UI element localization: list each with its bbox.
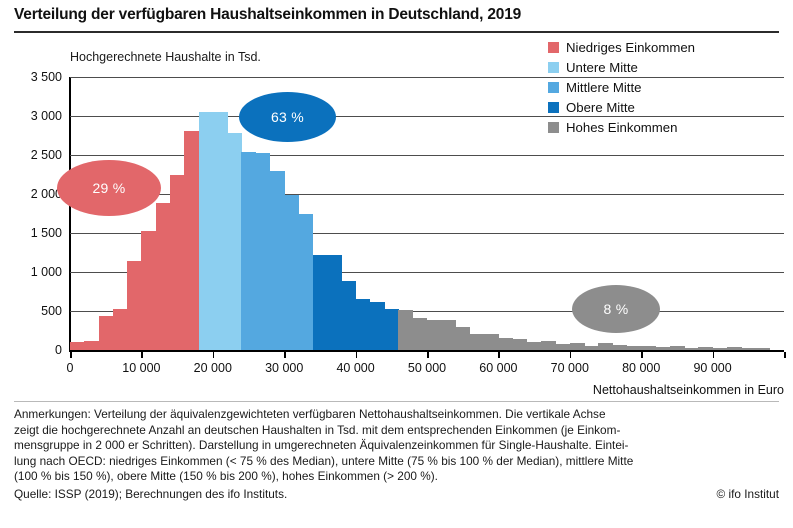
- gridline: [70, 77, 784, 78]
- x-axis-tick-label: 10 000: [122, 361, 160, 375]
- histogram-plot-area: [70, 77, 784, 350]
- x-axis-tick-label: 40 000: [336, 361, 374, 375]
- histogram-bar: [370, 302, 385, 350]
- histogram-bar: [513, 339, 528, 350]
- x-axis-tick: [356, 352, 358, 358]
- y-axis-tick-label: 3 000: [31, 109, 62, 123]
- histogram-bar: [99, 316, 114, 350]
- histogram-bar: [384, 309, 399, 350]
- histogram-bar: [313, 255, 328, 350]
- note-line: (100 % bis 150 %), obere Mitte (150 % bi…: [14, 469, 779, 485]
- histogram-bar: [184, 131, 199, 350]
- histogram-bar: [641, 346, 656, 350]
- title-divider: [14, 31, 779, 33]
- histogram-bar: [398, 310, 413, 350]
- x-axis-tick-label: 0: [67, 361, 74, 375]
- histogram-bar: [441, 320, 456, 350]
- histogram-bar: [256, 153, 271, 350]
- histogram-bar: [156, 203, 171, 350]
- histogram-bar: [498, 338, 513, 350]
- histogram-bar: [670, 346, 685, 350]
- gridline: [70, 155, 784, 156]
- y-axis-tick-label: 500: [41, 304, 62, 318]
- y-axis-subtitle: Hochgerechnete Haushalte in Tsd.: [70, 50, 261, 64]
- x-axis-tick-label: 50 000: [408, 361, 446, 375]
- histogram-bar: [541, 341, 556, 350]
- low-income-share: 29 %: [57, 160, 161, 216]
- histogram-bar: [698, 347, 713, 350]
- histogram-bar: [655, 347, 670, 350]
- x-axis-tick: [427, 352, 429, 358]
- histogram-bar: [570, 343, 585, 350]
- histogram-bar: [84, 341, 99, 350]
- notes-block: Anmerkungen: Verteilung der äquivalenzge…: [14, 407, 779, 485]
- page-title: Verteilung der verfügbaren Haushaltseink…: [14, 6, 521, 24]
- note-line: Anmerkungen: Verteilung der äquivalenzge…: [14, 407, 779, 423]
- x-axis-tick-label: 90 000: [693, 361, 731, 375]
- x-axis-tick: [713, 352, 715, 358]
- y-axis-tick-label: 3 500: [31, 70, 62, 84]
- x-axis-title: Nettohaushaltseinkommen in Euro: [593, 383, 784, 397]
- x-axis-tick-label: 20 000: [194, 361, 232, 375]
- legend-swatch-icon: [548, 42, 559, 53]
- x-axis-tick: [284, 352, 286, 358]
- histogram-bar: [556, 344, 571, 350]
- x-axis-tick-label: 70 000: [551, 361, 589, 375]
- histogram-bar: [70, 342, 85, 350]
- histogram-bar: [427, 320, 442, 350]
- x-axis-tick: [641, 352, 643, 358]
- y-axis-tick-label: 2 500: [31, 148, 62, 162]
- middle-income-share: 63 %: [239, 92, 336, 142]
- y-axis-tick-label: 1 000: [31, 265, 62, 279]
- histogram-bar: [755, 348, 770, 350]
- x-axis-tick: [498, 352, 500, 358]
- histogram-bar: [527, 342, 542, 350]
- legend-swatch-icon: [548, 62, 559, 73]
- histogram-bar: [741, 348, 756, 350]
- histogram-bar: [470, 334, 485, 350]
- histogram-bar: [141, 231, 156, 350]
- histogram-bar: [113, 309, 128, 350]
- y-axis-tick-label: 0: [55, 343, 62, 357]
- note-line: zeigt die hochgerechnete Anzahl an deuts…: [14, 423, 779, 439]
- histogram-bar: [127, 261, 142, 350]
- footer: Anmerkungen: Verteilung der äquivalenzge…: [14, 401, 779, 503]
- x-axis-tick-label: 30 000: [265, 361, 303, 375]
- x-axis-tick: [70, 352, 72, 358]
- histogram-bar: [684, 348, 699, 350]
- legend-item-label: Niedriges Einkommen: [566, 40, 695, 55]
- x-axis-tick-label: 80 000: [622, 361, 660, 375]
- histogram-bar: [413, 318, 428, 350]
- legend-item-label: Untere Mitte: [566, 60, 638, 75]
- x-axis-tick: [141, 352, 143, 358]
- histogram-bar: [713, 348, 728, 350]
- histogram-bar: [627, 346, 642, 350]
- histogram-bar: [284, 195, 299, 350]
- histogram-bar: [484, 334, 499, 350]
- x-axis-tick-label: 60 000: [479, 361, 517, 375]
- x-axis-tick: [213, 352, 215, 358]
- histogram-bar: [241, 152, 256, 350]
- high-income-share: 8 %: [572, 285, 660, 333]
- legend-item[interactable]: Untere Mitte: [548, 58, 695, 77]
- histogram-bar: [584, 346, 599, 350]
- y-axis-tick-label: 1 500: [31, 226, 62, 240]
- histogram-bar: [456, 327, 471, 350]
- histogram-bar: [327, 255, 342, 350]
- histogram-bar: [341, 281, 356, 350]
- histogram-bar: [199, 112, 214, 350]
- histogram-bar: [270, 171, 285, 350]
- copyright-text: © ifo Institut: [717, 487, 779, 501]
- x-axis-tick: [570, 352, 572, 358]
- histogram-bar: [213, 112, 228, 350]
- histogram-bar: [170, 175, 185, 350]
- note-line: lung nach OECD: niedriges Einkommen (< 7…: [14, 454, 779, 470]
- histogram-bar: [298, 214, 313, 351]
- source-text: Quelle: ISSP (2019); Berechnungen des if…: [14, 487, 287, 503]
- footer-divider: [14, 401, 779, 402]
- legend-item[interactable]: Niedriges Einkommen: [548, 38, 695, 57]
- histogram-bar: [356, 299, 371, 350]
- histogram-bar: [598, 343, 613, 350]
- histogram-bar: [227, 133, 242, 350]
- note-line: mensgruppe in 2 000 er Schritten). Darst…: [14, 438, 779, 454]
- histogram-bar: [727, 347, 742, 350]
- x-axis-tick: [784, 352, 786, 358]
- gridline: [70, 116, 784, 117]
- histogram-bar: [613, 345, 628, 350]
